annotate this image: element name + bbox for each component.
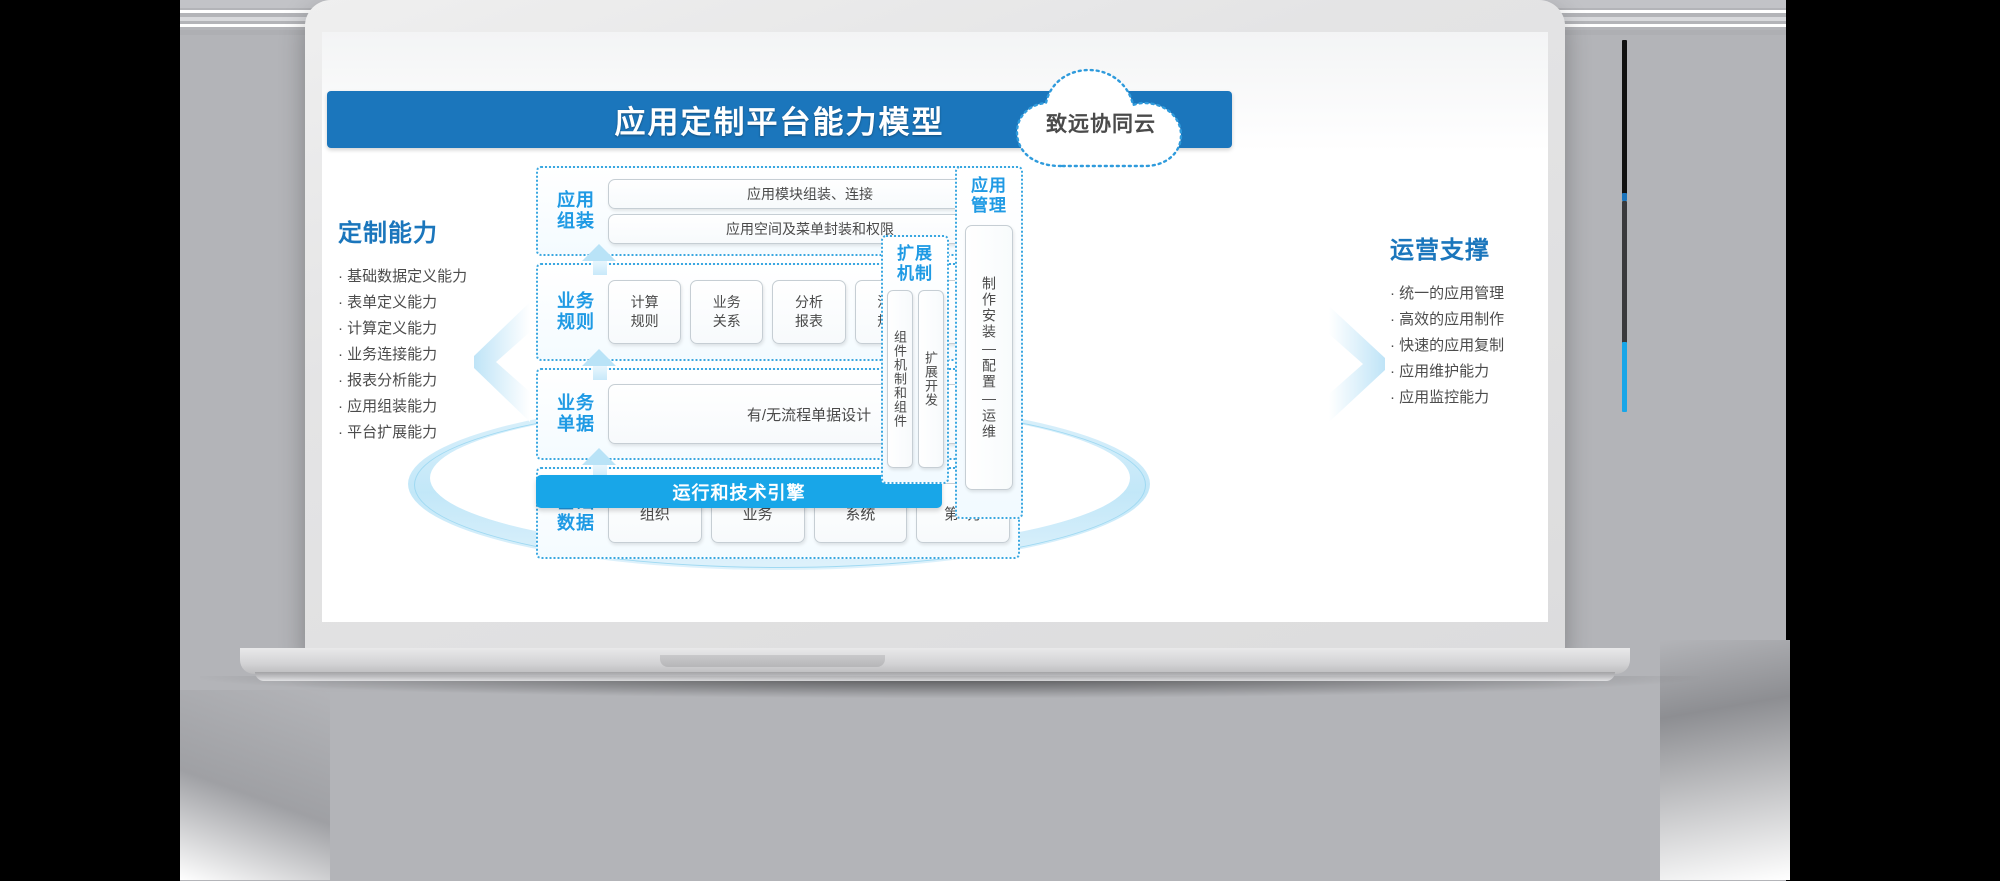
up-arrow-icon xyxy=(582,448,616,465)
extension-box[interactable]: 扩展开发 xyxy=(918,290,944,468)
right-panel-item: · 高效的应用制作 xyxy=(1390,307,1580,332)
background-shadow-left xyxy=(180,690,330,880)
right-panel-item: · 应用维护能力 xyxy=(1390,359,1580,384)
rule-box[interactable]: 业务 关系 xyxy=(690,280,763,344)
up-arrow-tail xyxy=(593,261,607,275)
section-label-line2: 单据 xyxy=(544,414,608,435)
right-panel-title: 运营支撑 xyxy=(1390,230,1580,265)
extension-column-boxes: 组件机制和组件 扩展开发 xyxy=(887,290,944,468)
edge-accent-grey xyxy=(1622,201,1627,346)
rule-box-line1: 业务 xyxy=(713,293,741,312)
right-panel-item: · 统一的应用管理 xyxy=(1390,281,1580,306)
section-label-business-bills: 业务 单据 xyxy=(544,393,608,435)
section-label-line1: 业务 xyxy=(544,393,608,414)
management-title-line1: 应用 xyxy=(971,176,1007,196)
up-arrow-tail xyxy=(593,366,607,380)
edge-accent-blue-bottom xyxy=(1622,342,1627,412)
assembly-box[interactable]: 应用模块组装、连接 xyxy=(608,179,1012,209)
left-panel-item: · 计算定义能力 xyxy=(338,316,518,341)
extension-box[interactable]: 组件机制和组件 xyxy=(887,290,913,468)
management-box[interactable]: 制作安装—配置—运维 xyxy=(965,225,1013,490)
left-panel-item: · 应用组装能力 xyxy=(338,394,518,419)
assembly-box[interactable]: 应用空间及菜单封装和权限 xyxy=(608,214,1012,244)
application-management-column: 应用 管理 制作安装—配置—运维 xyxy=(955,166,1023,519)
laptop-foot xyxy=(255,672,1615,681)
management-title-line2: 管理 xyxy=(971,196,1007,216)
right-panel-item: · 快速的应用复制 xyxy=(1390,333,1580,358)
extension-column-title: 扩展 机制 xyxy=(897,244,933,284)
edge-accent-blue-top xyxy=(1622,193,1627,201)
section-label-line1: 应用 xyxy=(544,190,608,211)
section-label-line2: 组装 xyxy=(544,211,608,232)
extension-title-line1: 扩展 xyxy=(897,244,933,264)
screenshot-stage: 应用定制平台能力模型 致远协同云 定制能力 · 基础数据定义能力 · 表单定义能… xyxy=(0,0,2000,881)
up-arrow-icon xyxy=(582,349,616,366)
extension-mechanism-column: 扩展 机制 组件机制和组件 扩展开发 xyxy=(881,235,949,484)
management-column-title: 应用 管理 xyxy=(971,176,1007,216)
laptop-base xyxy=(240,648,1630,674)
left-panel-item: · 业务连接能力 xyxy=(338,342,518,367)
extension-title-line2: 机制 xyxy=(897,264,933,284)
section-label-line2: 数据 xyxy=(544,513,608,534)
rule-box-line2: 规则 xyxy=(631,312,659,331)
right-support-panel: 运营支撑 · 统一的应用管理 · 高效的应用制作 · 快速的应用复制 · 应用维… xyxy=(1390,230,1580,411)
left-panel-item: · 平台扩展能力 xyxy=(338,420,518,445)
left-capability-panel: 定制能力 · 基础数据定义能力 · 表单定义能力 · 计算定义能力 · 业务连接… xyxy=(338,213,518,446)
rule-box-line2: 关系 xyxy=(713,312,741,331)
left-panel-item: · 基础数据定义能力 xyxy=(338,264,518,289)
left-panel-item: · 表单定义能力 xyxy=(338,290,518,315)
rule-box-line1: 计算 xyxy=(631,293,659,312)
laptop-base-notch xyxy=(660,655,885,667)
section-label-business-rules: 业务 规则 xyxy=(544,291,608,333)
left-panel-item: · 报表分析能力 xyxy=(338,368,518,393)
rule-box-line2: 报表 xyxy=(795,312,823,331)
chevron-right-icon xyxy=(1329,306,1385,427)
section-label-line1: 业务 xyxy=(544,291,608,312)
rule-box[interactable]: 计算 规则 xyxy=(608,280,681,344)
cloud-badge: 致远协同云 xyxy=(1003,66,1199,176)
section-body-application-assembly: 应用模块组装、连接 应用空间及菜单封装和权限 xyxy=(608,179,1010,244)
rule-box-line1: 分析 xyxy=(795,293,823,312)
rule-box[interactable]: 分析 报表 xyxy=(772,280,845,344)
bill-box[interactable]: 有/无流程单据设计 xyxy=(608,384,1010,444)
section-label-application-assembly: 应用 组装 xyxy=(544,190,608,232)
up-arrow-icon xyxy=(582,244,616,261)
cloud-badge-label: 致远协同云 xyxy=(1003,108,1199,138)
right-panel-item: · 应用监控能力 xyxy=(1390,385,1580,410)
section-label-line2: 规则 xyxy=(544,312,608,333)
left-panel-title: 定制能力 xyxy=(338,213,518,248)
section-body-business-bills: 有/无流程单据设计 xyxy=(608,384,1010,444)
section-body-business-rules: 计算 规则 业务 关系 分析 报表 xyxy=(608,280,1010,344)
edge-accent-dark xyxy=(1622,40,1627,195)
